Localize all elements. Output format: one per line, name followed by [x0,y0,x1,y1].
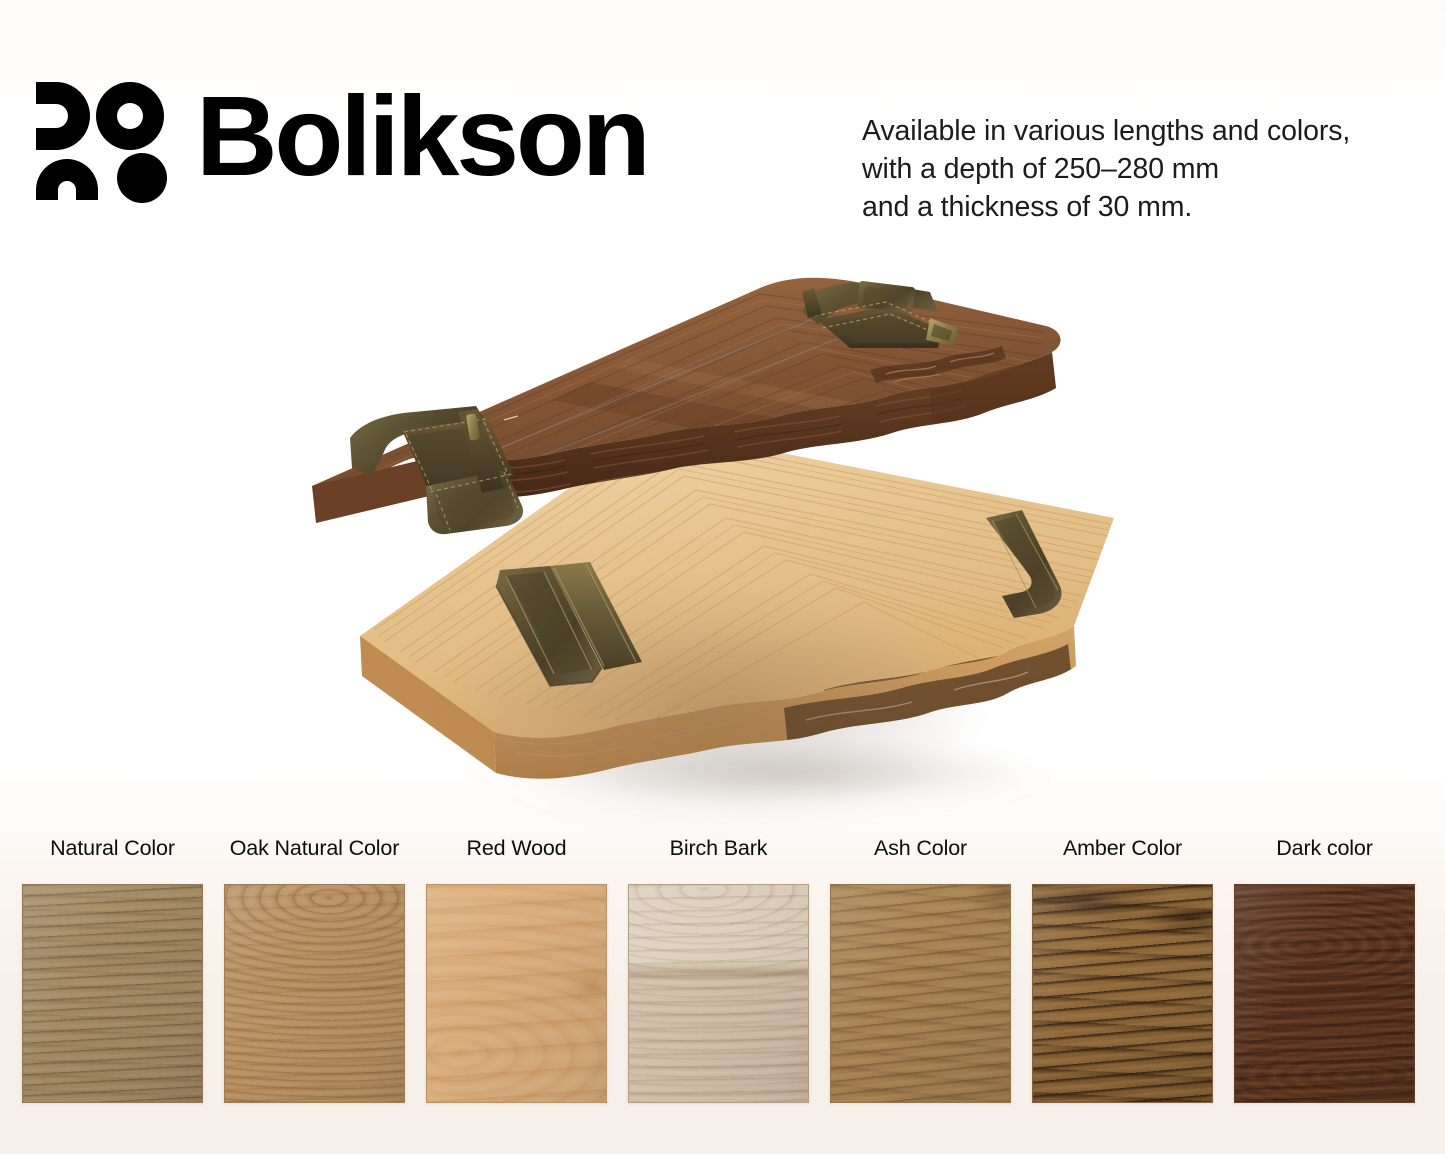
swatch-label: Oak Natural Color [230,838,400,860]
swatch-label: Birch Bark [670,838,768,860]
upper-board-handles [290,262,1080,622]
swatch-label: Natural Color [50,838,175,860]
swatch-sheen [225,885,404,1102]
tagline-line-1: Available in various lengths and colors, [862,112,1350,150]
swatch-sheen [1033,885,1212,1102]
swatch-cell[interactable]: Dark color [1234,838,1415,1138]
page-header: Bolikson Available in various lengths an… [0,0,1445,250]
swatch-label: Amber Color [1063,838,1182,860]
color-swatch-strip: Natural ColorOak Natural ColorRed WoodBi… [0,838,1445,1138]
swatch-chip[interactable] [628,884,809,1103]
swatch-cell[interactable]: Ash Color [830,838,1011,1138]
swatch-sheen [831,885,1010,1102]
product-photo-stage [0,238,1445,828]
product-tagline: Available in various lengths and colors,… [862,112,1350,227]
swatch-label: Dark color [1276,838,1372,860]
swatch-sheen [1235,885,1414,1102]
brand-name: Bolikson [196,85,648,189]
swatch-chip[interactable] [426,884,607,1103]
swatch-cell[interactable]: Red Wood [426,838,607,1138]
hero-product-photo [0,238,1445,828]
swatch-sheen [629,885,808,1102]
upper-board-right-strap-handle [802,281,958,348]
swatch-chip[interactable] [22,884,203,1103]
swatch-label: Red Wood [467,838,567,860]
bolikson-geometric-mark-icon [26,78,174,204]
swatch-cell[interactable]: Amber Color [1032,838,1213,1138]
upper-board-left-strap-handle [350,406,523,534]
tagline-line-3: and a thickness of 30 mm. [862,188,1350,226]
swatch-chip[interactable] [1234,884,1415,1103]
swatch-chip[interactable] [1032,884,1213,1103]
swatch-cell[interactable]: Natural Color [22,838,203,1138]
swatch-sheen [427,885,606,1102]
swatch-sheen [23,885,202,1102]
tagline-line-2: with a depth of 250–280 mm [862,150,1350,188]
swatch-row: Natural ColorOak Natural ColorRed WoodBi… [22,838,1423,1138]
swatch-cell[interactable]: Oak Natural Color [224,838,405,1138]
swatch-chip[interactable] [830,884,1011,1103]
swatch-cell[interactable]: Birch Bark [628,838,809,1138]
swatch-chip[interactable] [224,884,405,1103]
swatch-label: Ash Color [874,838,967,860]
brand-lockup: Bolikson [26,78,648,204]
